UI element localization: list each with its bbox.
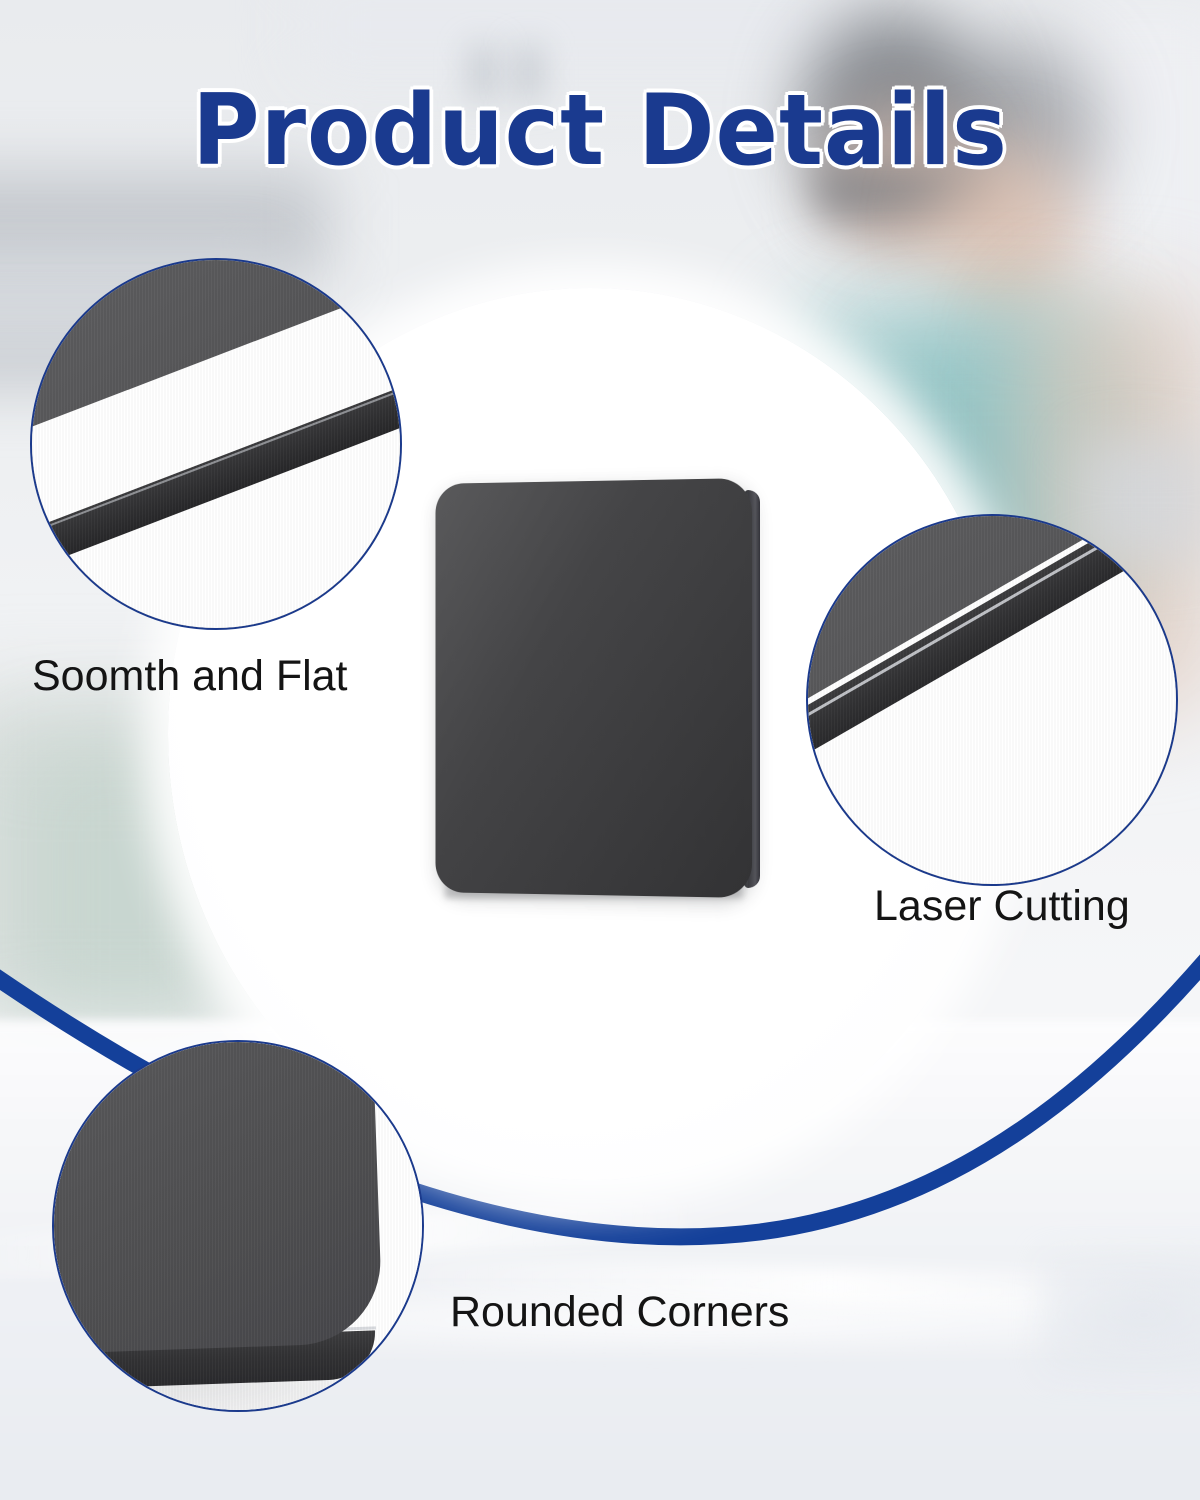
page-title: Product Details (36, 74, 1164, 188)
callout-label-rounded-corners: Rounded Corners (450, 1288, 789, 1337)
product-plate (418, 462, 778, 912)
callout-label-smooth-and-flat: Soomth and Flat (32, 652, 348, 701)
callout-circle-rounded-corners[interactable] (52, 1040, 424, 1412)
product-plate-face (435, 478, 752, 898)
callout-circle-smooth-and-flat[interactable] (30, 258, 402, 630)
corner-plate-top-face (52, 1040, 383, 1358)
callout-circle-laser-cutting[interactable] (806, 514, 1178, 886)
callout-label-laser-cutting: Laser Cutting (874, 882, 1130, 931)
product-details-infographic: Product Details Soomth and Flat Laser Cu… (0, 0, 1200, 1500)
